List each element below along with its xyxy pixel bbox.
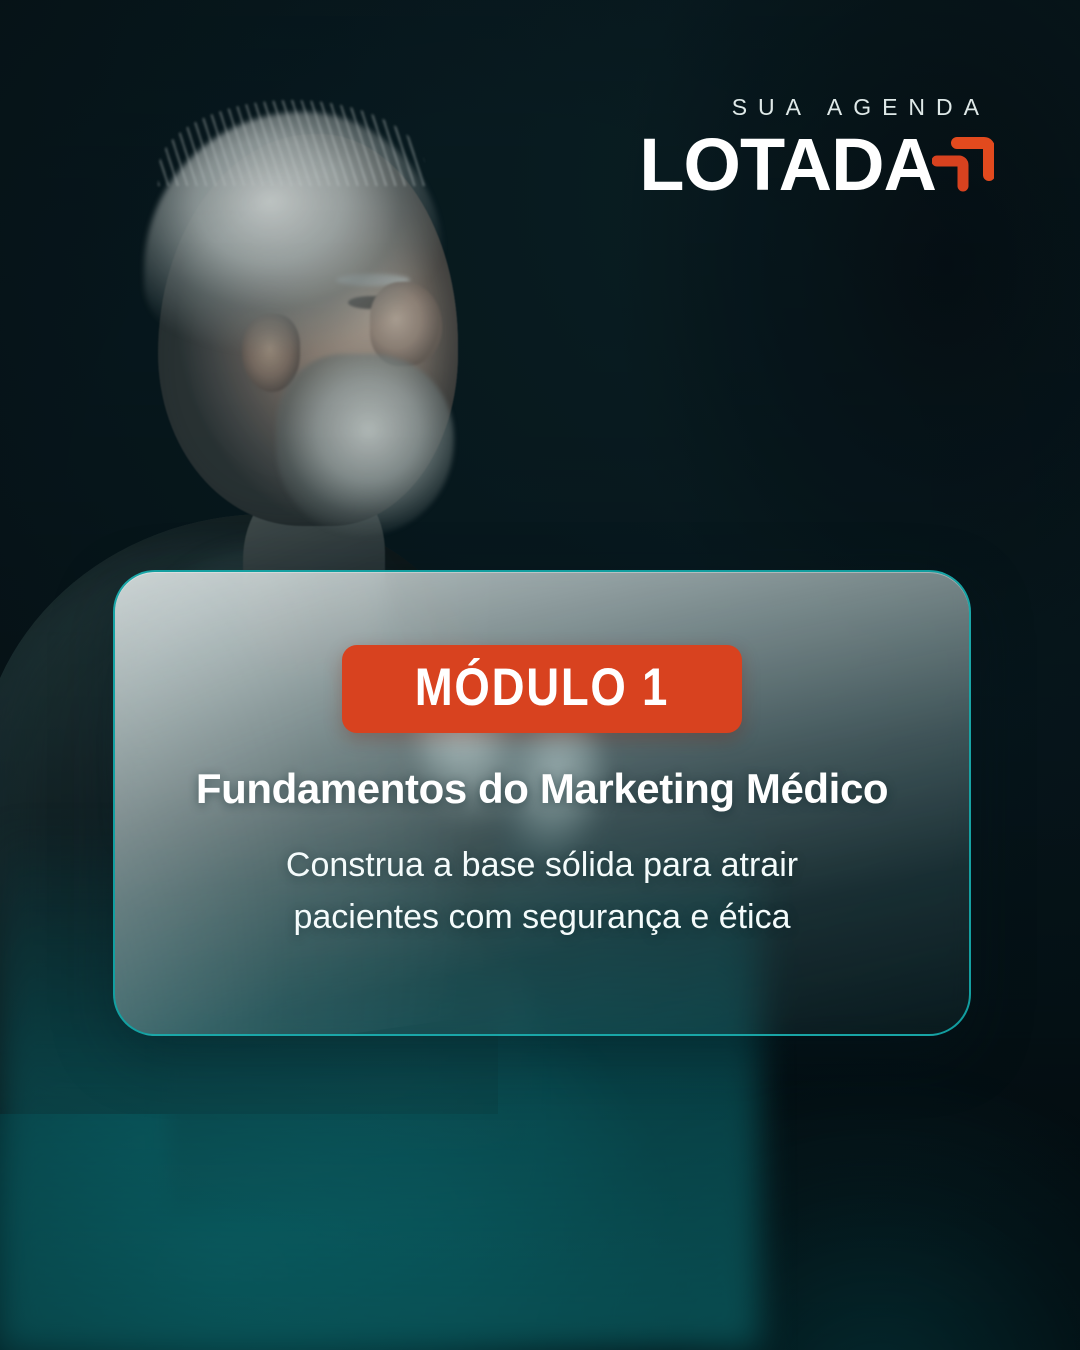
module-badge-label: MÓDULO 1 xyxy=(415,661,669,714)
brand-wordmark-row: LOTADA xyxy=(639,131,994,199)
module-subtitle-line-2: pacientes com segurança e ética xyxy=(286,892,798,944)
brand-logo[interactable]: SUA AGENDA LOTADA xyxy=(639,96,994,199)
module-subtitle: Construa a base sólida para atrair pacie… xyxy=(286,840,798,943)
brand-wordmark: LOTADA xyxy=(639,131,936,199)
module-card: MÓDULO 1 Fundamentos do Marketing Médico… xyxy=(113,570,971,1036)
module-title: Fundamentos do Marketing Médico xyxy=(196,765,888,812)
double-chevron-arrow-icon xyxy=(932,133,994,193)
module-badge: MÓDULO 1 xyxy=(342,645,742,733)
module-subtitle-line-1: Construa a base sólida para atrair xyxy=(286,840,798,892)
promo-slide: SUA AGENDA LOTADA MÓDULO 1 Fundamentos d… xyxy=(0,0,1080,1350)
brand-kicker: SUA AGENDA xyxy=(639,96,994,119)
